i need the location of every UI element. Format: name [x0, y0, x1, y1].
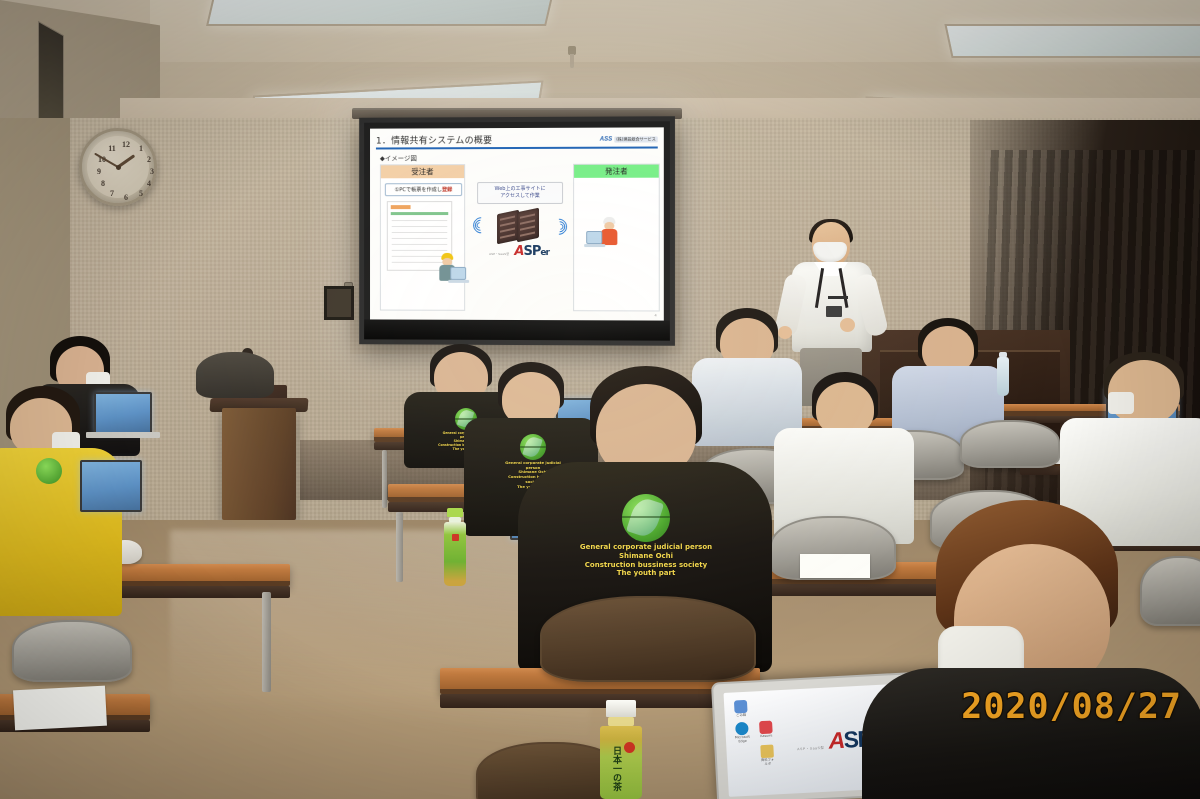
green-tea-bottle[interactable]	[442, 508, 468, 586]
clock-numeral: 2	[144, 155, 154, 164]
shirt-logo-line: General corporate judicial person	[576, 543, 716, 552]
wifi-signal-icon	[473, 213, 500, 240]
clock-numeral: 7	[107, 189, 117, 198]
camera-date-stamp: 2020/08/27	[961, 687, 1182, 727]
slide-column-client: 発注者	[573, 164, 660, 312]
handout-paper	[800, 554, 870, 578]
brand-mark-icon: ASS	[600, 136, 612, 142]
asper-tagline: ASP・SaaS型	[489, 253, 509, 256]
slide-server-icon	[497, 212, 543, 242]
edge-browser-icon	[735, 722, 749, 736]
seminar-room-photo: 12 1 2 3 4 5 6 7 8 9 10 11 1．情報共有システムの概要	[0, 0, 1200, 799]
wall-picture-frame	[324, 286, 354, 320]
clock-numeral: 9	[94, 167, 104, 176]
clock-numeral: 12	[121, 140, 131, 149]
asper-letters-er: er	[540, 248, 549, 258]
clock-numeral: 8	[98, 179, 108, 188]
app-icon	[759, 721, 773, 735]
brand-company-name: (株)建設総合サービス	[614, 136, 658, 142]
clock-numeral: 4	[144, 179, 154, 188]
slide-page-number: 4	[654, 312, 656, 317]
water-bottle[interactable]	[996, 352, 1010, 396]
bottle-brand-mark	[452, 534, 459, 541]
clock-face: 12 1 2 3 4 5 6 7 8 9 10 11	[87, 136, 149, 198]
desk-leg	[262, 592, 271, 692]
bottle-cap	[447, 508, 463, 517]
desktop-icon-edge[interactable]: Microsoft Edge	[734, 722, 750, 744]
face-mask-icon	[1108, 392, 1134, 414]
asper-tagline: ASP・SaaS型	[797, 746, 824, 751]
slide-canvas: 1．情報共有システムの概要 ASS (株)建設総合サービス ◆イメージ図 受注者…	[370, 127, 664, 320]
desktop-icon-app[interactable]: Kasumi	[758, 720, 774, 738]
ceiling-light-panel	[944, 24, 1200, 58]
slide-brand: ASS (株)建設総合サービス	[600, 136, 658, 142]
shirt-logo-line: Construction bussiness society	[576, 561, 716, 570]
bottle-brand-mark	[624, 742, 635, 753]
asper-wordmark: ASPer	[514, 244, 549, 259]
slide-title: 1．情報共有システムの概要	[376, 133, 492, 146]
shirt-pocket	[828, 296, 848, 299]
desktop-icon-label: 資料フォルダ	[760, 758, 775, 766]
slide-subtitle: ◆イメージ図	[380, 152, 417, 162]
shirt-emblem-icon	[622, 494, 670, 542]
desktop-icon-label: Kasumi	[759, 734, 774, 738]
chair[interactable]	[540, 596, 756, 682]
projected-slide: 1．情報共有システムの概要 ASS (株)建設総合サービス ◆イメージ図 受注者…	[370, 127, 664, 320]
projection-screen: 1．情報共有システムの概要 ASS (株)建設総合サービス ◆イメージ図 受注者…	[359, 116, 675, 346]
asper-letter-a: A	[828, 727, 844, 754]
shirt-logo-line: The youth part	[576, 569, 716, 578]
center-message-line2: アクセスして作業	[500, 193, 540, 201]
slide-worker-client-icon	[598, 215, 628, 249]
column-header-client: 発注者	[574, 165, 659, 178]
bottle-body: 日本一の茶	[600, 726, 642, 799]
presenter-hand	[840, 318, 855, 332]
attendee-foreground-right	[898, 500, 1198, 799]
slide-center-message: Web上の工事サイトに アクセスして作業	[477, 182, 563, 204]
slide-column-contractor: 受注者 ①PCで帳票を作成し登録	[380, 164, 465, 311]
lectern	[222, 408, 296, 520]
bottle-cap	[606, 700, 636, 717]
chair[interactable]	[12, 620, 132, 682]
asper-letters-sp: SP	[523, 244, 540, 259]
ceiling-light-panel	[206, 0, 554, 26]
step-highlight: 登録	[442, 186, 452, 193]
screen-bottom-bar	[364, 319, 670, 340]
sprinkler-head-icon	[566, 46, 578, 68]
asper-logo: ASP・SaaS型 ASPer	[487, 240, 551, 259]
shirt-logo: General corporate judicial person Shiman…	[576, 494, 716, 578]
attendee-laptop	[80, 460, 142, 512]
clock-numeral: 3	[147, 167, 157, 176]
slide-step-box: ①PCで帳票を作成し登録	[385, 183, 462, 196]
wall-clock: 12 1 2 3 4 5 6 7 8 9 10 11	[79, 128, 157, 206]
tea-bottle-foreground[interactable]: 日本一の茶	[598, 700, 644, 799]
clock-numeral: 5	[136, 189, 146, 198]
shirt-logo-text: General corporate judicial person Shiman…	[576, 543, 716, 578]
monitor-icon	[586, 231, 602, 244]
worker-body	[601, 229, 617, 245]
desk-leg	[396, 512, 403, 582]
bottle-label-text: 日本一の茶	[610, 746, 623, 791]
handout-paper	[13, 686, 107, 731]
chair[interactable]	[196, 352, 274, 398]
chair[interactable]	[960, 420, 1060, 468]
wifi-signal-icon	[541, 213, 568, 240]
bottle-neck	[608, 717, 634, 726]
folder-icon	[760, 745, 774, 759]
desktop-icon-label: ごみ箱	[734, 714, 749, 718]
desktop-icon-recycle-bin[interactable]: ごみ箱	[733, 700, 749, 718]
id-badge	[826, 306, 842, 317]
laptop-screen	[80, 460, 142, 512]
laptop-icon	[450, 267, 466, 280]
attendee-white-shirt	[780, 372, 908, 540]
recycle-bin-icon	[734, 700, 748, 714]
desk-leg	[382, 450, 387, 508]
bottle-body	[444, 522, 466, 586]
column-header-contractor: 受注者	[381, 165, 464, 178]
shirt-emblem-icon	[36, 458, 62, 484]
server-unit	[517, 208, 539, 243]
shirt-logo-line: Shimane Ochi	[576, 552, 716, 561]
step-text: PCで帳票を作成し	[399, 186, 442, 193]
desktop-icon-folder[interactable]: 資料フォルダ	[759, 744, 775, 766]
slide-header: 1．情報共有システムの概要 ASS (株)建設総合サービス	[376, 131, 658, 149]
clock-numeral: 6	[121, 193, 131, 202]
clock-center-pin	[116, 165, 121, 170]
clock-numeral: 11	[107, 144, 117, 153]
desktop-icon-label: Microsoft Edge	[735, 736, 750, 744]
bottle-body	[997, 357, 1009, 396]
center-message-line1: Web上の工事サイトに	[495, 185, 546, 193]
slide-worker-contractor-icon	[436, 251, 466, 285]
clock-numeral: 1	[136, 144, 146, 153]
